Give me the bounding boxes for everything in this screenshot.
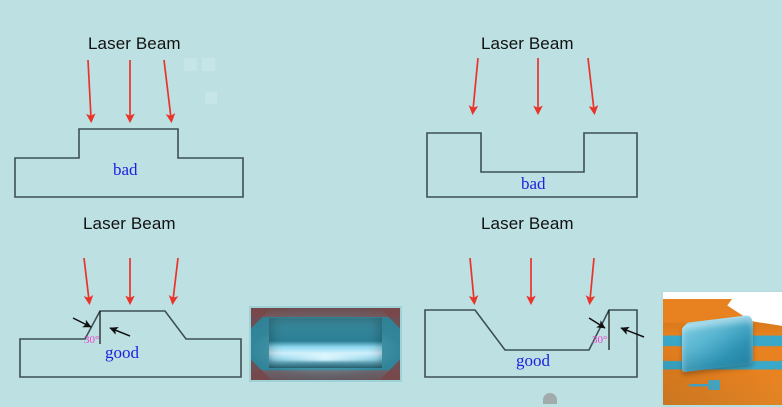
laser-beam-label-top-left: Laser Beam (88, 34, 181, 54)
angle-pointer-arrow (110, 328, 130, 336)
verdict-label-bottom-left: good (105, 343, 139, 363)
laser-arrow (88, 60, 91, 118)
figure-canvas: Laser Beam bad Laser Beam bad Laser Beam… (0, 0, 782, 404)
verdict-label-top-right: bad (521, 174, 546, 194)
angle-pointer-arrow (621, 328, 644, 337)
trench-micrograph-photo (249, 306, 402, 382)
laser-arrow (470, 258, 474, 300)
laser-beam-label-bottom-left: Laser Beam (83, 214, 176, 234)
laser-arrow (173, 258, 178, 300)
angle-pointer-arrow (73, 318, 91, 327)
laser-arrow (84, 258, 89, 300)
bottom-edge-artifact (543, 393, 557, 404)
angle-label-bottom-right: 30° (592, 334, 607, 346)
profilometry-3d-render (661, 290, 782, 407)
render-shading (663, 292, 782, 405)
micrograph-bevel-edges (251, 308, 400, 380)
laser-arrow (473, 58, 478, 110)
background-artifacts (184, 58, 217, 104)
laser-arrow (588, 58, 594, 110)
angle-label-bottom-left: 30° (84, 334, 99, 346)
laser-arrow (590, 258, 594, 300)
laser-arrow (164, 60, 171, 118)
laser-beam-label-top-right: Laser Beam (481, 34, 574, 54)
verdict-label-top-left: bad (113, 160, 138, 180)
laser-beam-label-bottom-right: Laser Beam (481, 214, 574, 234)
verdict-label-bottom-right: good (516, 351, 550, 371)
